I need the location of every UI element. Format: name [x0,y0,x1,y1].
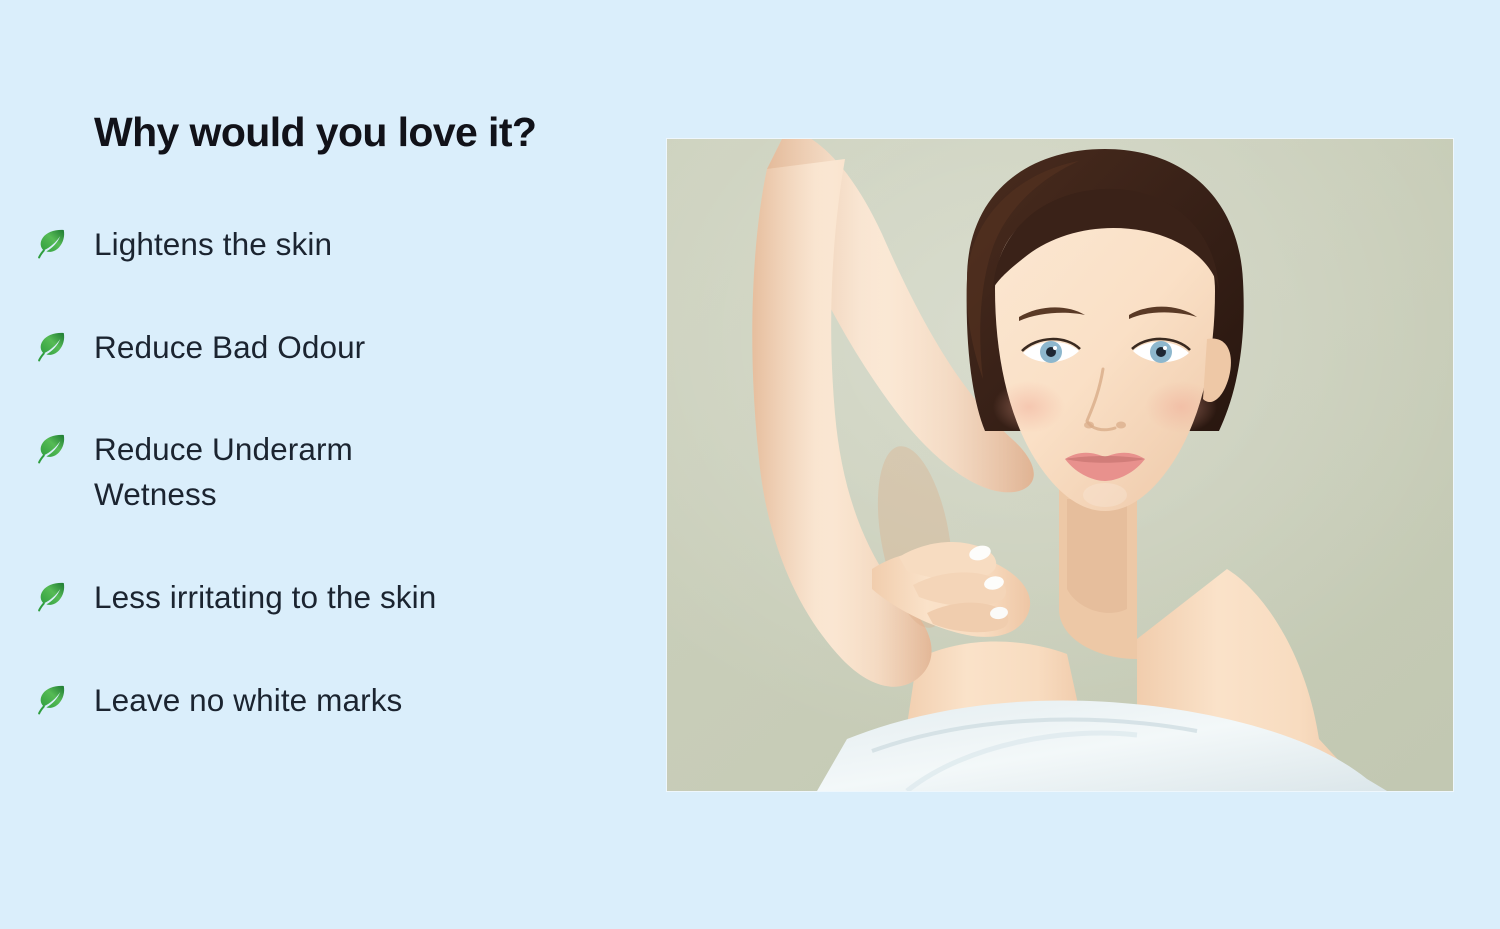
leaf-icon [34,431,68,465]
benefit-label: Reduce Bad Odour [94,325,365,370]
leaf-icon [34,226,68,260]
slide-root: Why would you love it? [0,0,1500,929]
leaf-icon [34,579,68,613]
list-item: Lightens the skin [34,222,634,267]
model-photo-illustration [667,139,1453,791]
benefit-label: Leave no white marks [94,678,402,723]
leaf-icon [34,329,68,363]
benefit-label: Less irritating to the skin [94,575,436,620]
benefit-label: Lightens the skin [94,222,332,267]
benefit-label: Reduce Underarm Wetness [94,427,474,516]
benefits-list: Lightens the skin Reduce Bad Odour [34,222,634,722]
list-item: Reduce Underarm Wetness [34,427,634,516]
list-item: Reduce Bad Odour [34,325,634,370]
model-photo [667,139,1453,791]
benefits-column: Why would you love it? [0,0,650,929]
page-title: Why would you love it? [94,109,536,156]
list-item: Less irritating to the skin [34,575,634,620]
list-item: Leave no white marks [34,678,634,723]
leaf-icon [34,682,68,716]
